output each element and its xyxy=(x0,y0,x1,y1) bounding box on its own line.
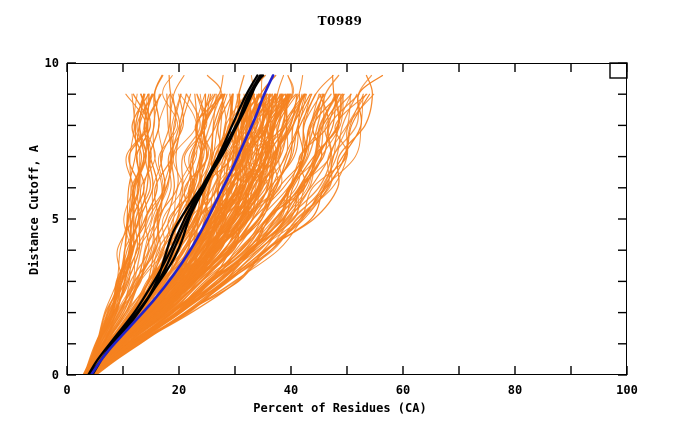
x-tick-label: 40 xyxy=(261,383,321,397)
x-tick-label: 0 xyxy=(37,383,97,397)
chart-root: T0989 020406080100 0510 Percent of Resid… xyxy=(0,0,680,440)
x-axis-label: Percent of Residues (CA) xyxy=(0,401,680,415)
plot-frame xyxy=(67,63,627,375)
x-tick-label: 20 xyxy=(149,383,209,397)
plot-area xyxy=(67,63,627,375)
y-tick-label: 10 xyxy=(29,56,59,70)
x-tick-label: 80 xyxy=(485,383,545,397)
x-tick-label: 60 xyxy=(373,383,433,397)
y-axis-label: Distance Cutoff, A xyxy=(27,90,41,330)
y-tick-label: 0 xyxy=(29,368,59,382)
page-title: T0989 xyxy=(0,14,680,28)
x-tick-label: 100 xyxy=(597,383,657,397)
